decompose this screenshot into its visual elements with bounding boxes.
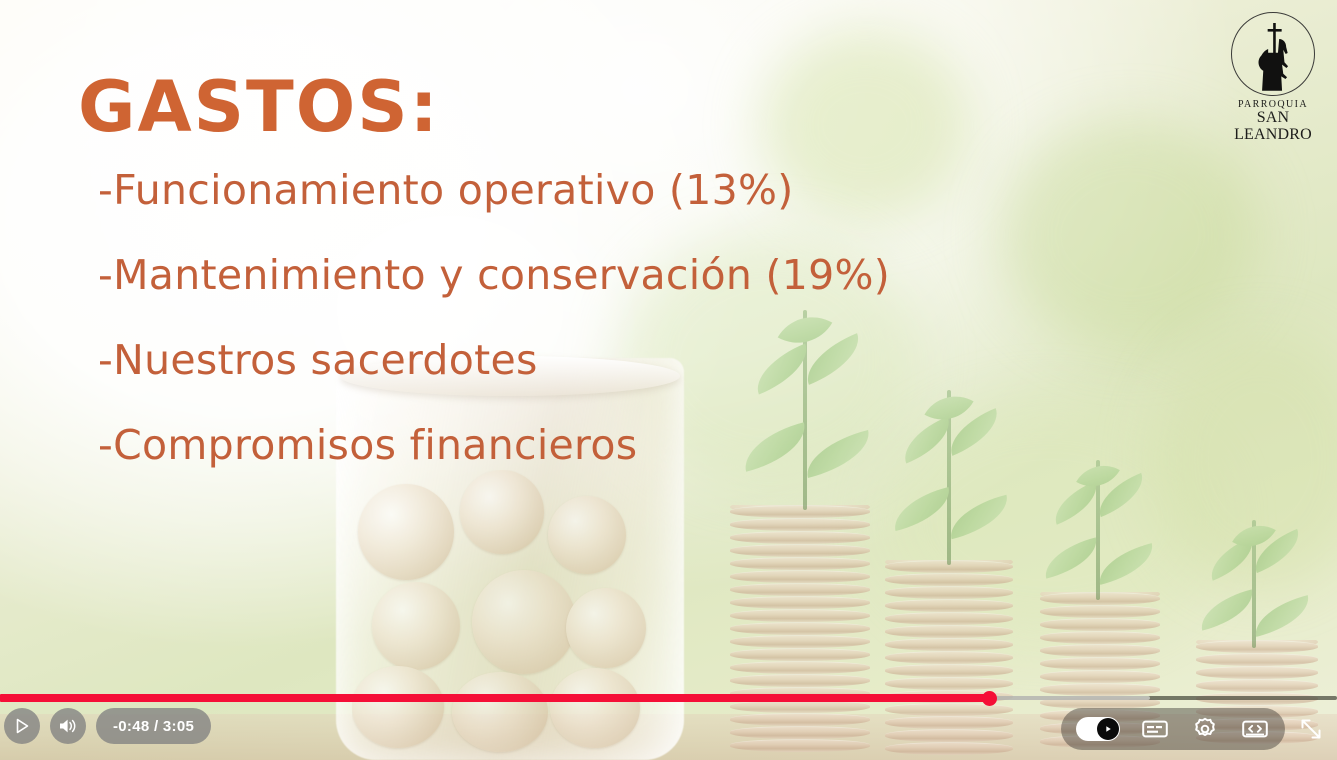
- closed-captions-icon: [1142, 719, 1168, 739]
- play-triangle-icon: [13, 717, 31, 735]
- code-brackets-screen-icon: [1242, 719, 1268, 739]
- bishop-with-cross-silhouette-icon: [1248, 19, 1302, 93]
- fullscreen-arrows-icon: [1299, 717, 1323, 741]
- progress-scrubber-handle[interactable]: [982, 691, 997, 706]
- video-player[interactable]: GASTOS: -Funcionamiento operativo (13%) …: [0, 0, 1337, 760]
- gear-icon: [1193, 717, 1217, 741]
- coin-stack: [730, 505, 870, 760]
- play-button[interactable]: [4, 708, 40, 744]
- bullet-item: -Nuestros sacerdotes: [98, 340, 1098, 381]
- coin-stack: [885, 560, 1013, 760]
- settings-button[interactable]: [1190, 714, 1220, 744]
- theater-mode-button[interactable]: [1240, 714, 1270, 744]
- logo-circle: [1231, 12, 1315, 96]
- slide-title: GASTOS:: [78, 66, 440, 148]
- autoplay-toggle[interactable]: [1076, 717, 1120, 741]
- controls-pill: [1061, 708, 1285, 750]
- logo-line-san-leandro: SAN LEANDRO: [1223, 110, 1323, 144]
- slide-bullet-list: -Funcionamiento operativo (13%) -Manteni…: [98, 170, 1098, 510]
- speaker-wave-icon: [57, 717, 79, 735]
- volume-button[interactable]: [50, 708, 86, 744]
- bullet-item: -Funcionamiento operativo (13%): [98, 170, 1098, 211]
- fullscreen-button[interactable]: [1291, 708, 1331, 750]
- player-controls-right: [1061, 708, 1337, 750]
- player-controls-left: -0:48 / 3:05: [4, 708, 211, 744]
- bullet-item: -Mantenimiento y conservación (19%): [98, 255, 1098, 296]
- progress-played: [0, 694, 989, 702]
- captions-button[interactable]: [1140, 714, 1170, 744]
- time-display: -0:48 / 3:05: [96, 708, 211, 744]
- bullet-item: -Compromisos financieros: [98, 425, 1098, 466]
- autoplay-knob: [1097, 718, 1119, 740]
- parish-logo: PARROQUIA SAN LEANDRO: [1223, 12, 1323, 128]
- plant-sprout: [1204, 520, 1316, 648]
- toggle-play-icon: [1103, 724, 1113, 734]
- progress-bar[interactable]: [0, 690, 1337, 706]
- coin-jar-contents: [352, 470, 670, 755]
